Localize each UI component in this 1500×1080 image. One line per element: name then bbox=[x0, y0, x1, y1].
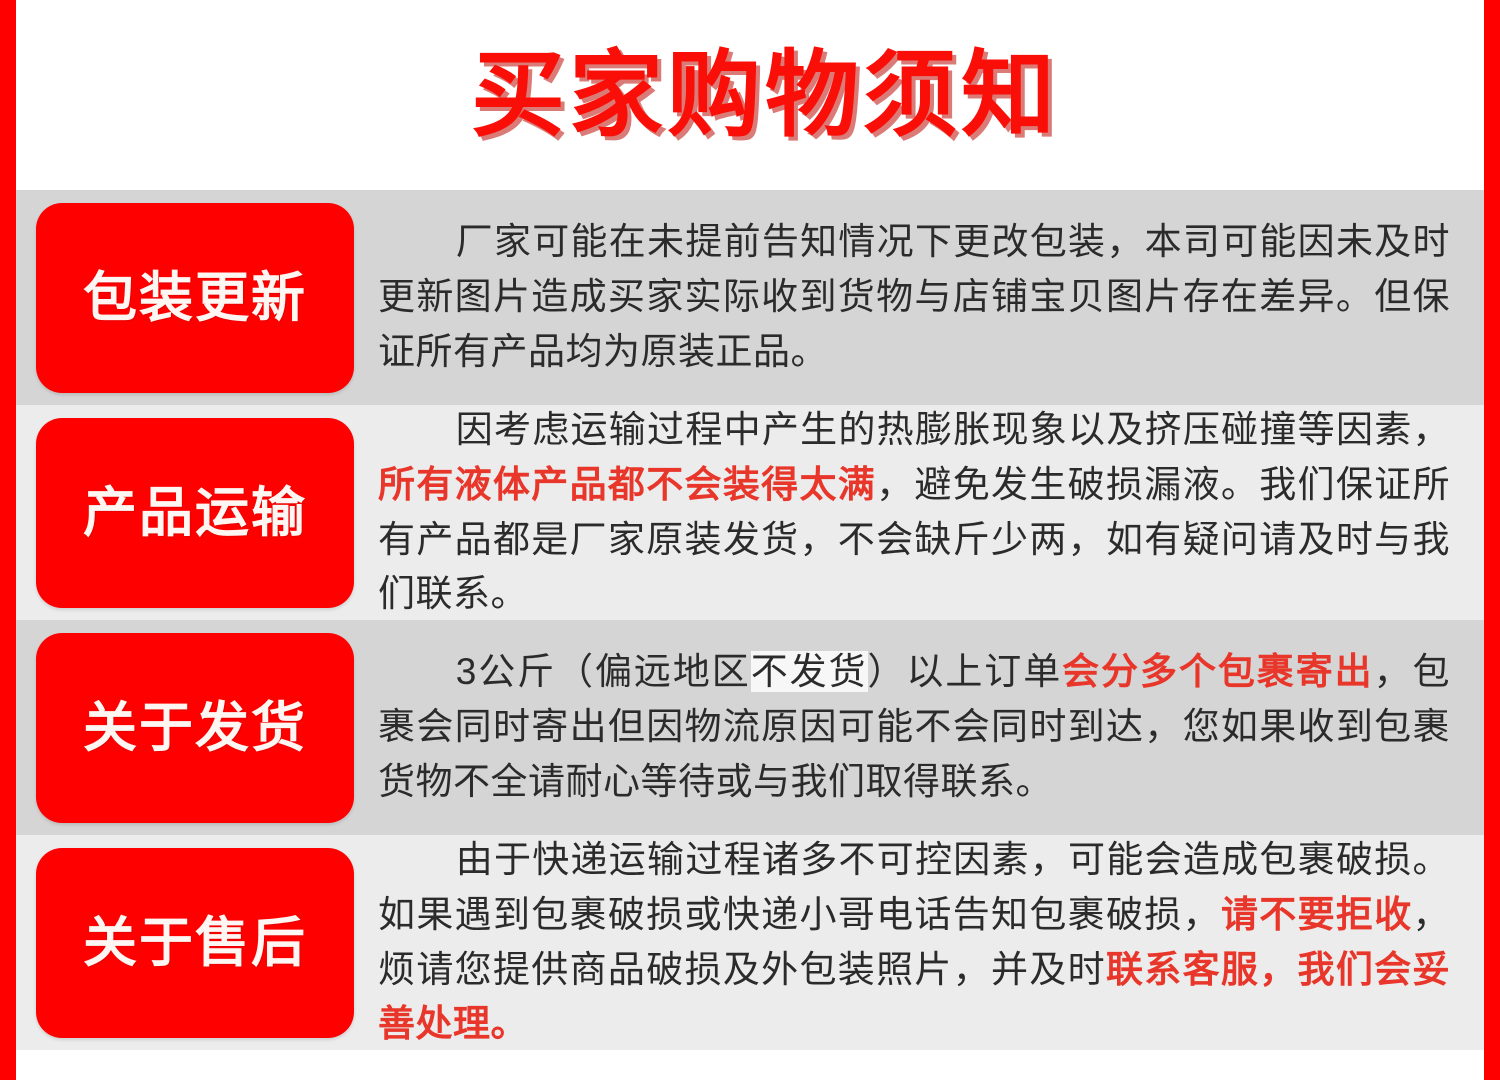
section-body: 因考虑运输过程中产生的热膨胀现象以及挤压碰撞等因素，所有液体产品都不会装得太满，… bbox=[354, 403, 1460, 622]
emphasis-text: 所有液体产品都不会装得太满 bbox=[378, 464, 876, 505]
section-label-text: 产品运输 bbox=[83, 486, 307, 540]
section-paragraph: 因考虑运输过程中产生的热膨胀现象以及挤压碰撞等因素，所有液体产品都不会装得太满，… bbox=[378, 403, 1450, 622]
highlighted-text: 不发货 bbox=[751, 651, 868, 692]
section-label-text: 关于发货 bbox=[83, 701, 307, 755]
section-label-card: 包装更新 bbox=[36, 203, 354, 393]
section-body: 3公斤（偏远地区不发货）以上订单会分多个包裹寄出，包裹会同时寄出但因物流原因可能… bbox=[354, 645, 1460, 809]
section-label-text: 关于售后 bbox=[83, 916, 307, 970]
section-label-card: 产品运输 bbox=[36, 418, 354, 608]
body-text: 3公斤（偏远地区 bbox=[456, 651, 751, 692]
section-body: 厂家可能在未提前告知情况下更改包装，本司可能因未及时更新图片造成买家实际收到货物… bbox=[354, 215, 1460, 379]
notice-row: 关于售后由于快递运输过程诸多不可控因素，可能会造成包裹破损。如果遇到包裹破损或快… bbox=[16, 835, 1484, 1050]
section-label-card: 关于售后 bbox=[36, 848, 354, 1038]
emphasis-text: 会分多个包裹寄出 bbox=[1062, 651, 1373, 692]
shopping-notice-panel: 买家购物须知 包装更新厂家可能在未提前告知情况下更改包装，本司可能因未及时更新图… bbox=[16, 0, 1484, 1060]
bottom-strip bbox=[16, 1050, 1484, 1080]
section-label-card: 关于发货 bbox=[36, 633, 354, 823]
body-text: ）以上订单 bbox=[868, 651, 1063, 692]
emphasis-text: 请不要拒收 bbox=[1221, 894, 1413, 935]
section-label-text: 包装更新 bbox=[83, 271, 307, 325]
notice-sections: 包装更新厂家可能在未提前告知情况下更改包装，本司可能因未及时更新图片造成买家实际… bbox=[16, 190, 1484, 1050]
section-paragraph: 厂家可能在未提前告知情况下更改包装，本司可能因未及时更新图片造成买家实际收到货物… bbox=[378, 215, 1450, 379]
section-body: 由于快递运输过程诸多不可控因素，可能会造成包裹破损。如果遇到包裹破损或快递小哥电… bbox=[354, 833, 1460, 1052]
body-text: 厂家可能在未提前告知情况下更改包装，本司可能因未及时更新图片造成买家实际收到货物… bbox=[378, 221, 1450, 372]
section-paragraph: 由于快递运输过程诸多不可控因素，可能会造成包裹破损。如果遇到包裹破损或快递小哥电… bbox=[378, 833, 1450, 1052]
notice-row: 产品运输因考虑运输过程中产生的热膨胀现象以及挤压碰撞等因素，所有液体产品都不会装… bbox=[16, 405, 1484, 620]
notice-row: 包装更新厂家可能在未提前告知情况下更改包装，本司可能因未及时更新图片造成买家实际… bbox=[16, 190, 1484, 405]
notice-row: 关于发货3公斤（偏远地区不发货）以上订单会分多个包裹寄出，包裹会同时寄出但因物流… bbox=[16, 620, 1484, 835]
page-title: 买家购物须知 bbox=[441, 48, 1059, 142]
section-paragraph: 3公斤（偏远地区不发货）以上订单会分多个包裹寄出，包裹会同时寄出但因物流原因可能… bbox=[378, 645, 1450, 809]
title-band: 买家购物须知 bbox=[16, 0, 1484, 190]
body-text: 因考虑运输过程中产生的热膨胀现象以及挤压碰撞等因素， bbox=[456, 409, 1450, 450]
